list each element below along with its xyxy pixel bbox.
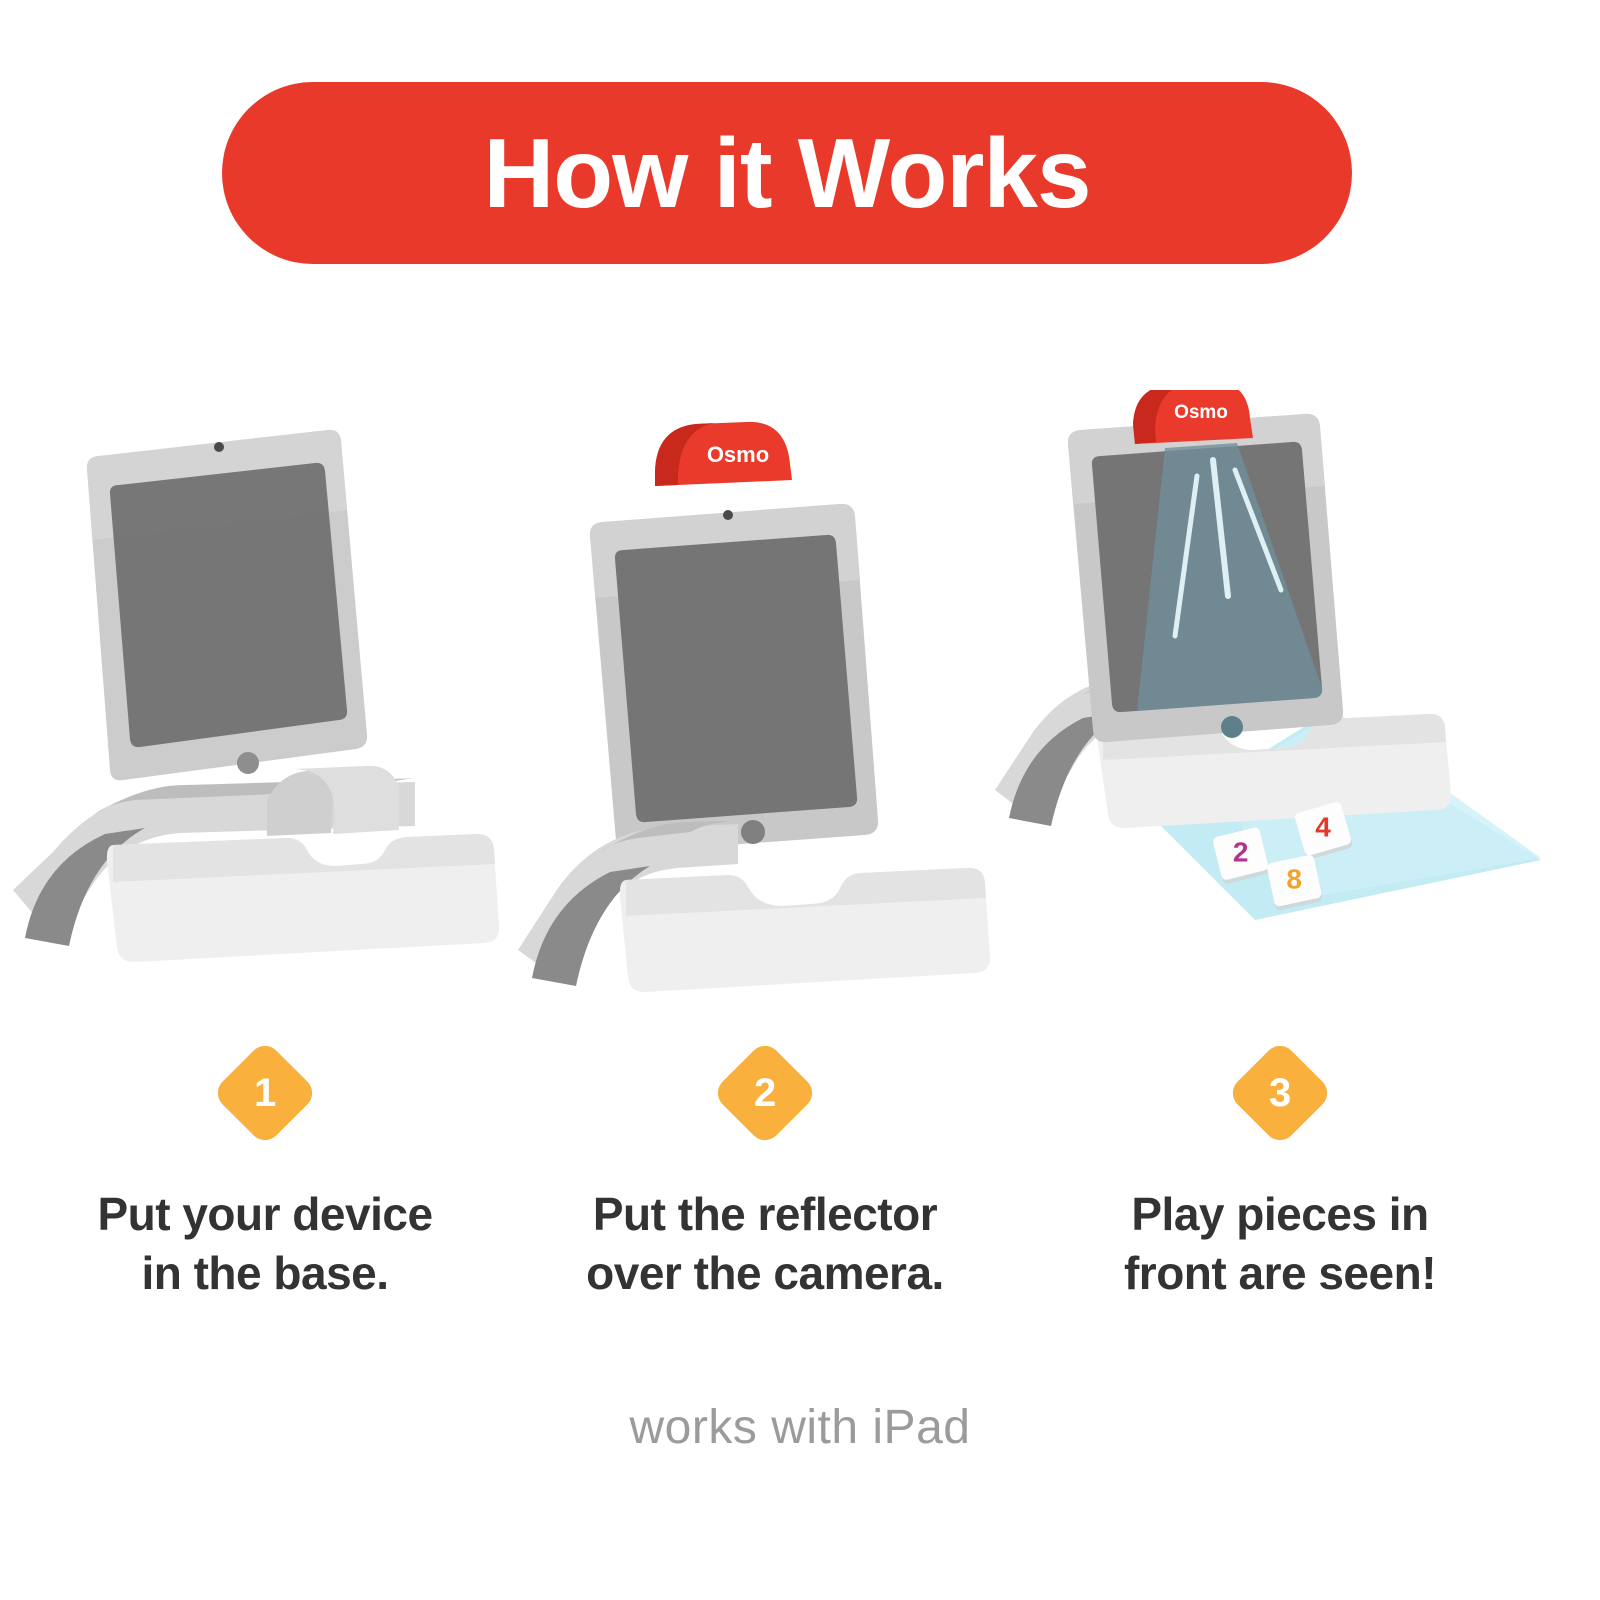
step-badge-2: 2 — [711, 1039, 818, 1146]
tablet-base-1 — [13, 766, 499, 962]
step-caption-1: Put your device in the base. — [15, 1185, 515, 1303]
tablet-device-1 — [87, 430, 367, 780]
how-it-works-infographic: How it Works — [0, 0, 1600, 1600]
tablet-base-2 — [518, 820, 990, 992]
illustration-row: Osmo — [0, 390, 1600, 1010]
illustration-step-2: Osmo — [500, 390, 1040, 1010]
osmo-wordmark-2: Osmo — [707, 442, 769, 467]
step-3: 3 Play pieces in front are seen! — [1030, 1055, 1530, 1303]
title-banner: How it Works — [222, 82, 1352, 264]
svg-text:2: 2 — [1233, 837, 1249, 868]
footer: works with iPad — [0, 1400, 1600, 1455]
steps-row: 1 Put your device in the base. 2 Put the… — [0, 1055, 1600, 1355]
page-title: How it Works — [484, 124, 1091, 222]
step-1: 1 Put your device in the base. — [15, 1055, 515, 1303]
tablet-device-3 — [1068, 414, 1343, 742]
step-badge-1: 1 — [211, 1039, 318, 1146]
osmo-reflector-2: Osmo — [655, 422, 792, 486]
illustration-step-3: Osmo 2 4 — [985, 390, 1525, 1010]
step-number-1: 1 — [254, 1073, 276, 1113]
compatibility-note: works with iPad — [630, 1401, 971, 1454]
illustration-step-1 — [0, 390, 535, 1010]
step-2: 2 Put the reflector over the camera. — [515, 1055, 1015, 1303]
osmo-reflector-3: Osmo — [1133, 390, 1253, 444]
step-number-2: 2 — [754, 1073, 776, 1113]
step-badge-3: 3 — [1226, 1039, 1333, 1146]
svg-text:4: 4 — [1315, 812, 1331, 843]
tablet-device-2 — [590, 504, 878, 852]
svg-text:8: 8 — [1286, 864, 1302, 895]
step-number-3: 3 — [1269, 1073, 1291, 1113]
osmo-wordmark-3: Osmo — [1174, 402, 1228, 423]
step-caption-2: Put the reflector over the camera. — [515, 1185, 1015, 1303]
game-piece-8: 8 — [1266, 854, 1323, 911]
step-caption-3: Play pieces in front are seen! — [1030, 1185, 1530, 1303]
